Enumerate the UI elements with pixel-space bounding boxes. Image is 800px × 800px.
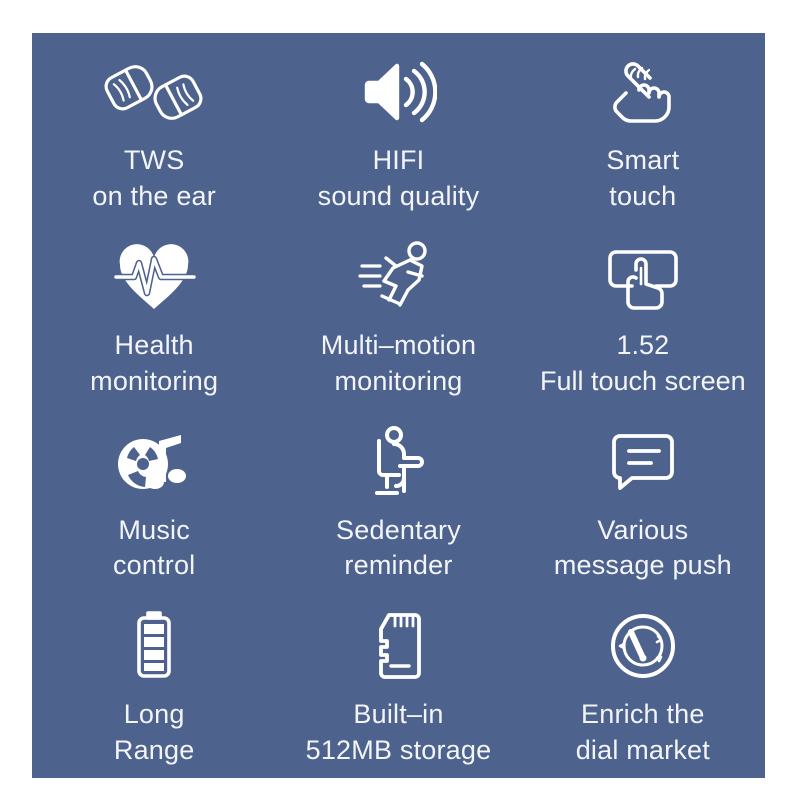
feature-label-line1: Music xyxy=(118,515,190,545)
feature-panel: TWS on the ear HIFI sound quality xyxy=(32,33,765,778)
feature-cell-tws: TWS on the ear xyxy=(32,39,276,215)
feature-cell-sedentary: Sedentary reminder xyxy=(276,409,520,585)
feature-label-line2: dial market xyxy=(576,733,710,769)
running-person-icon xyxy=(356,238,440,316)
feature-label-line1: 1.52 xyxy=(617,330,670,360)
feature-cell-hifi: HIFI sound quality xyxy=(276,39,520,215)
feature-label: Enrich the dial market xyxy=(576,697,710,769)
feature-label: Health monitoring xyxy=(90,328,218,400)
feature-label-line2: 512MB storage xyxy=(306,733,492,769)
feature-label-line2: monitoring xyxy=(90,364,218,400)
feature-label: 1.52 Full touch screen xyxy=(540,328,746,400)
feature-label-line1: Long xyxy=(124,699,185,729)
feature-label: HIFI sound quality xyxy=(318,143,480,215)
feature-label-line1: Health xyxy=(115,330,194,360)
feature-cell-health: Health monitoring xyxy=(32,224,276,400)
feature-label-line1: Smart xyxy=(606,145,679,175)
battery-icon xyxy=(130,607,178,685)
speaker-sound-icon xyxy=(359,53,437,131)
feature-label: TWS on the ear xyxy=(92,143,216,215)
tws-earbuds-icon xyxy=(98,53,210,131)
microsd-card-icon xyxy=(369,607,427,685)
feature-label-line1: Sedentary xyxy=(336,515,461,545)
feature-label-line1: Various xyxy=(597,515,688,545)
feature-label-line2: message push xyxy=(554,548,732,584)
feature-cell-battery: Long Range xyxy=(32,593,276,769)
feature-label-line1: Enrich the xyxy=(581,699,705,729)
feature-cell-dial: Enrich the dial market xyxy=(521,593,765,769)
feature-label: Smart touch xyxy=(606,143,679,215)
feature-label-line2: Full touch screen xyxy=(540,364,746,400)
feature-label-line1: Built–in xyxy=(353,699,443,729)
hand-touch-icon xyxy=(605,53,681,131)
feature-label: Multi–motion monitoring xyxy=(321,328,476,400)
feature-cell-storage: Built–in 512MB storage xyxy=(276,593,520,769)
feature-label-line2: control xyxy=(113,548,195,584)
feature-label-line2: Range xyxy=(114,733,195,769)
feature-label: Built–in 512MB storage xyxy=(306,697,492,769)
feature-label-line2: sound quality xyxy=(318,179,480,215)
feature-cell-multi-motion: Multi–motion monitoring xyxy=(276,224,520,400)
feature-label: Sedentary reminder xyxy=(336,513,461,585)
feature-cell-smart-touch: Smart touch xyxy=(521,39,765,215)
feature-grid-page: TWS on the ear HIFI sound quality xyxy=(0,0,800,800)
feature-label-line1: Multi–motion xyxy=(321,330,476,360)
feature-label-line1: TWS xyxy=(124,145,185,175)
feature-label-line2: reminder xyxy=(336,548,461,584)
feature-label: Long Range xyxy=(114,697,195,769)
watch-dial-icon xyxy=(607,607,679,685)
message-bubble-icon xyxy=(608,423,678,501)
feature-cell-message: Various message push xyxy=(521,409,765,585)
feature-label-line2: touch xyxy=(606,179,679,215)
touch-screen-icon xyxy=(606,238,680,316)
feature-cell-touch-screen: 1.52 Full touch screen xyxy=(521,224,765,400)
feature-label-line2: on the ear xyxy=(92,179,216,215)
seated-person-icon xyxy=(361,423,435,501)
feature-label: Music control xyxy=(113,513,195,585)
feature-label-line1: HIFI xyxy=(373,145,425,175)
feature-label: Various message push xyxy=(554,513,732,585)
feature-cell-music: Music control xyxy=(32,409,276,585)
heart-pulse-icon xyxy=(112,238,196,316)
feature-label-line2: monitoring xyxy=(321,364,476,400)
music-disc-note-icon xyxy=(114,423,194,501)
